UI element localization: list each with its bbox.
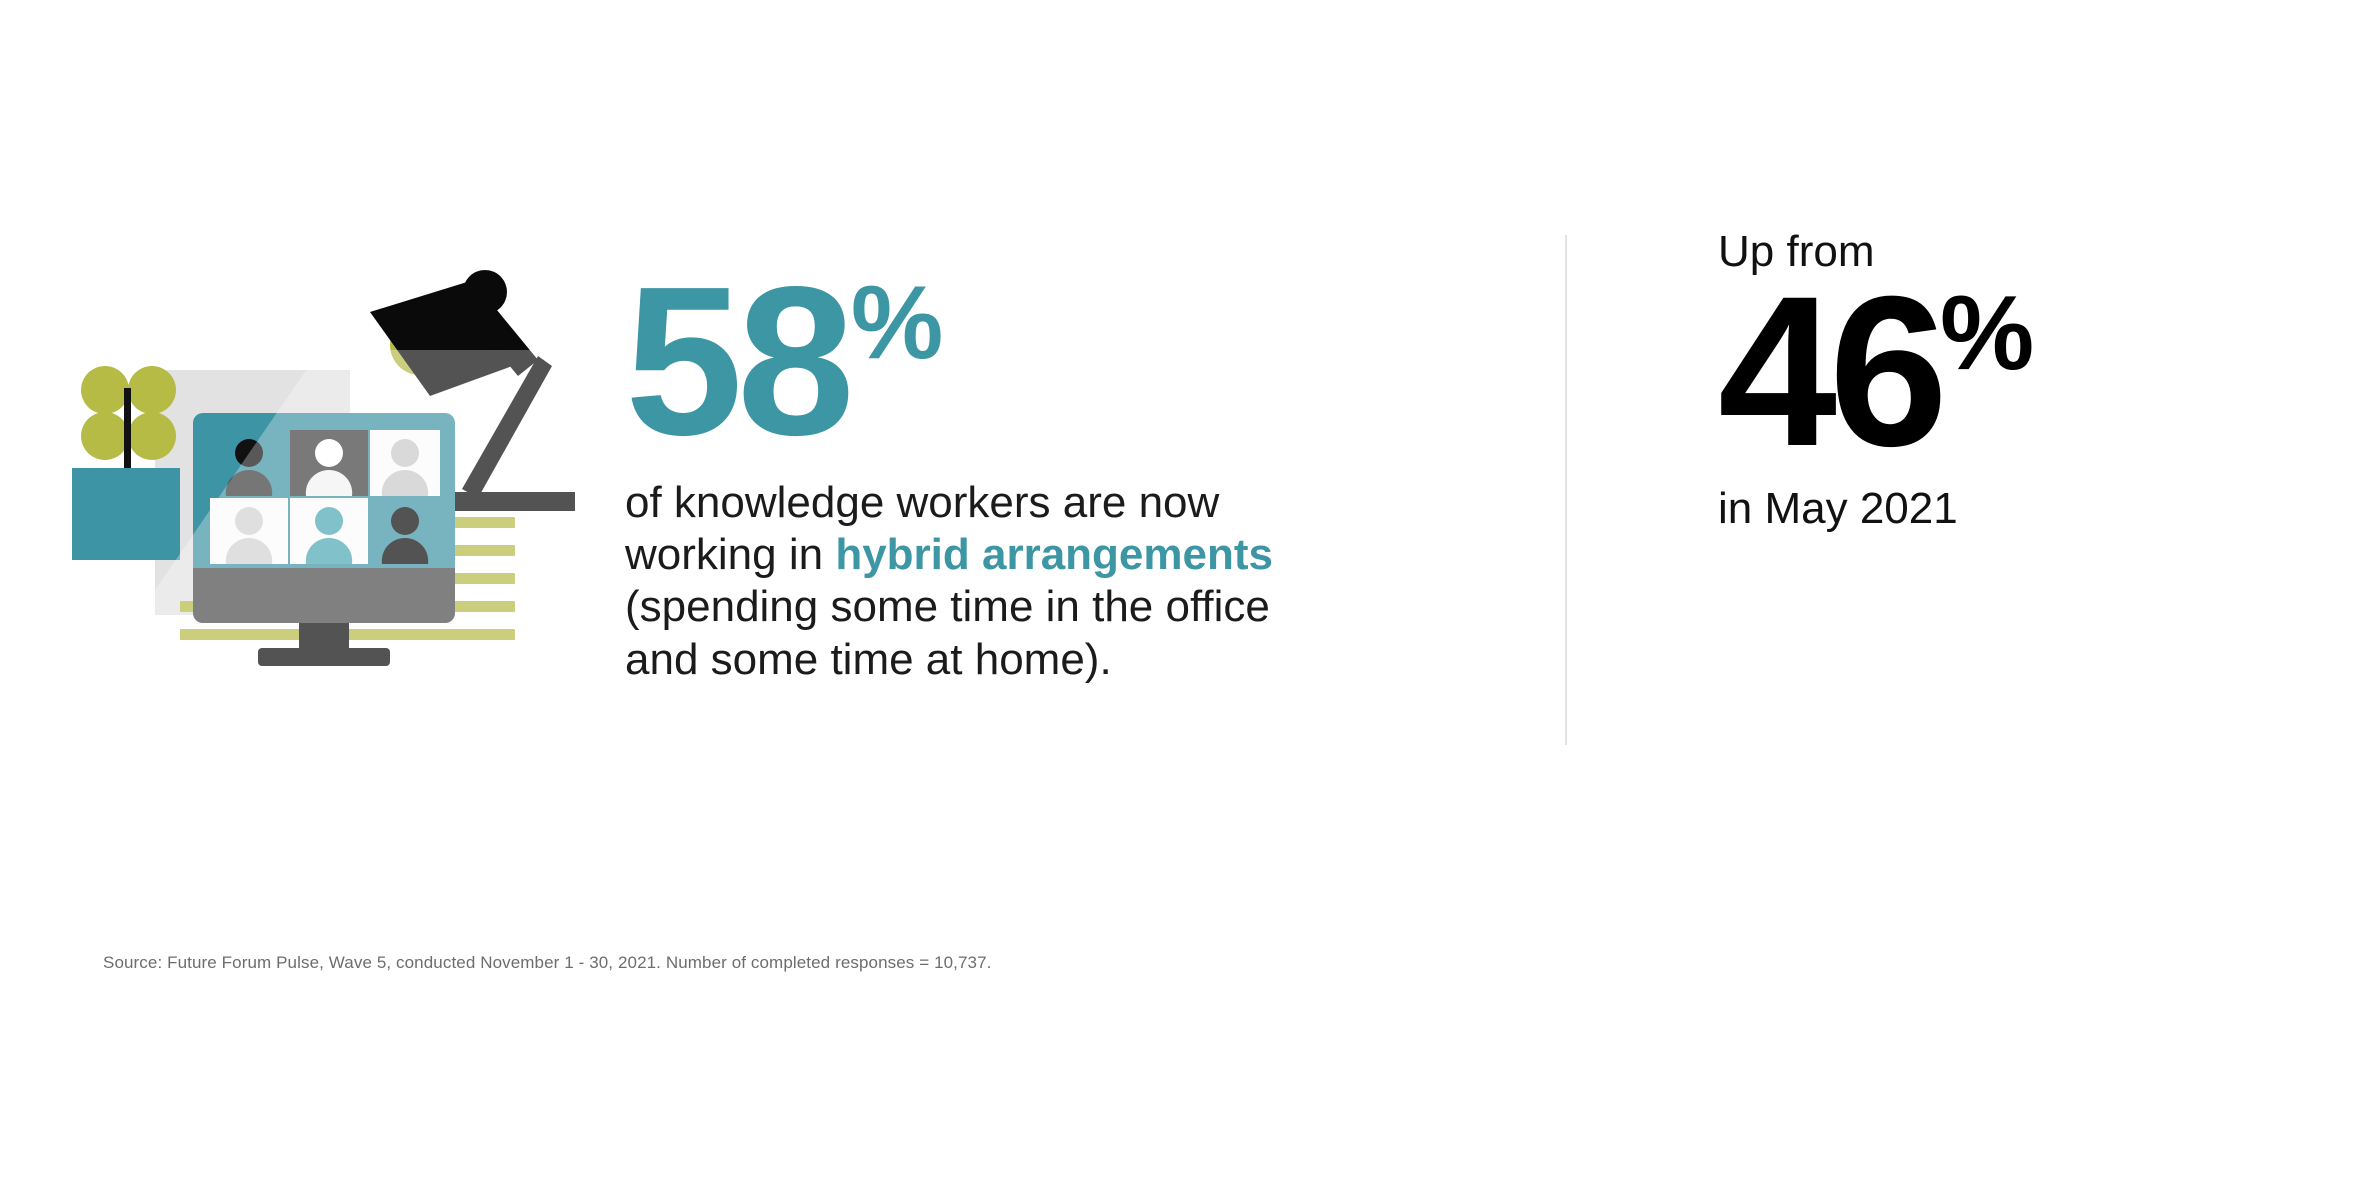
plant-leaf — [81, 412, 129, 460]
plant-leaf — [128, 366, 176, 414]
lamp-joint — [463, 270, 507, 314]
plant-stem — [124, 388, 131, 472]
remote-work-illustration — [60, 270, 580, 670]
right-stat-number-row: 46 % — [1718, 280, 2318, 464]
right-stat-block: Up from 46 % in May 2021 — [1718, 228, 2318, 534]
source-note: Source: Future Forum Pulse, Wave 5, cond… — [103, 953, 992, 973]
plant-leaf — [81, 366, 129, 414]
illustration-svg — [60, 270, 580, 670]
right-stat-value: 46 — [1718, 280, 1940, 464]
left-stat-description: of knowledge workers are now working in … — [625, 477, 1325, 686]
vertical-divider — [1565, 235, 1567, 745]
left-stat-block: 58 % of knowledge workers are now workin… — [625, 268, 1345, 686]
plant-leaf — [128, 412, 176, 460]
right-stat-percent-symbol: % — [1940, 288, 2032, 379]
left-stat-number-row: 58 % — [625, 268, 1345, 455]
description-highlight: hybrid arrangements — [835, 530, 1273, 579]
plant-pot — [72, 468, 180, 560]
left-stat-percent-symbol: % — [851, 278, 941, 370]
description-part-2: (spending some time in the office and so… — [625, 582, 1270, 683]
left-stat-value: 58 — [625, 268, 849, 455]
right-stat-caption-bottom: in May 2021 — [1718, 484, 2318, 534]
